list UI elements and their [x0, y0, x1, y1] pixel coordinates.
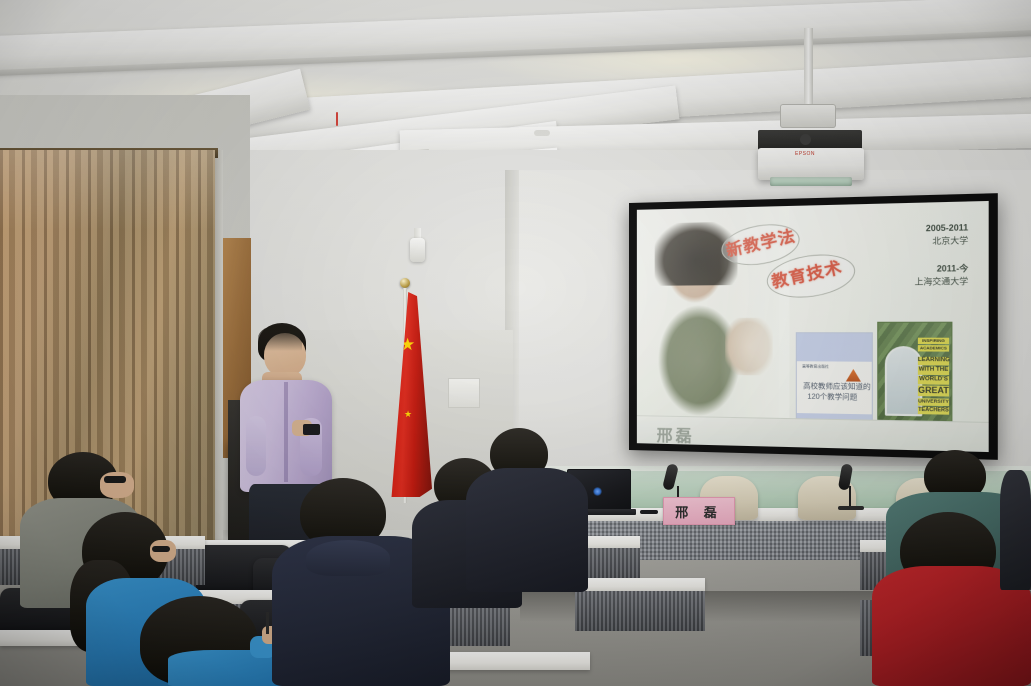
nameplate-text: 邢 磊	[675, 502, 723, 521]
presenter-shirt-placket	[284, 382, 288, 482]
presenter-hair-top	[258, 325, 302, 351]
desk-cable	[640, 510, 658, 514]
attendee-dark-right-body	[1000, 470, 1031, 590]
desk-panel-mid-right	[575, 591, 705, 631]
presenter-arm-left	[246, 416, 266, 476]
glasses-icon	[104, 476, 126, 483]
pen-icon	[266, 612, 269, 634]
wall-outlet-panel	[448, 378, 480, 408]
glasses-icon-2	[152, 546, 170, 552]
nameplate: 邢 磊	[663, 497, 735, 525]
microphone-base-2	[838, 506, 864, 510]
projection-screen: 新教学法 教育技术 2005-2011 北京大学 2011-今 上海交通大学 高…	[629, 193, 998, 460]
presenter-remote[interactable]	[303, 424, 320, 435]
hoodie-hood	[306, 540, 390, 576]
projector-pole	[804, 28, 813, 106]
lecture-hall-photo: EPSON 新教学法 教育技术 2005-2011 北京大学 2011-今 上海…	[0, 0, 1031, 686]
smoke-detector	[534, 130, 550, 136]
security-camera-icon	[410, 238, 425, 262]
desk-mid-right	[575, 578, 705, 592]
attendee-dark-jacket-2-body	[466, 468, 588, 592]
projected-slide: 新教学法 教育技术 2005-2011 北京大学 2011-今 上海交通大学 高…	[637, 201, 989, 452]
projector-lens	[770, 177, 852, 186]
laptop-logo-glow	[593, 487, 602, 496]
projector-bracket-bolt	[800, 134, 811, 145]
projector-brand-label: EPSON	[795, 151, 815, 157]
projector-mount	[780, 104, 836, 128]
desk-center-near	[430, 652, 590, 670]
screen-sheen	[637, 201, 989, 452]
curtain-highlight	[0, 150, 215, 230]
flag-finial	[400, 278, 410, 288]
sprinkler-pipe-2	[336, 112, 338, 126]
flag-star-small-2: ★	[404, 410, 412, 419]
